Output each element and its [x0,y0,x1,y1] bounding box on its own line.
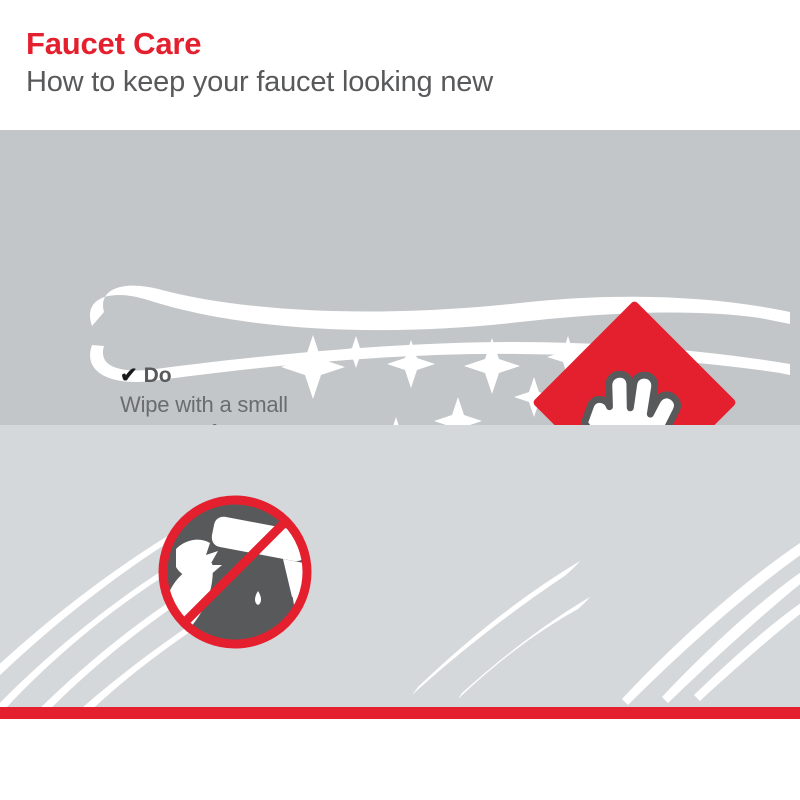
sparkle-icon [514,377,554,417]
sparkle-icon [367,417,425,425]
do-panel: ✔Do Wipe with a small amount of water an… [0,130,800,425]
streak-line [0,529,232,707]
streak-line [412,561,580,695]
streak-line [622,535,800,705]
cloth-diamond [532,300,737,425]
faucet-spout [292,589,322,629]
illustration-backdrop [163,500,307,644]
streak-line [694,596,800,701]
no-scrubbing-prohibition-icon [163,500,322,645]
do-label-row: ✔Do [120,364,360,388]
scrub-motion [163,563,213,645]
do-body-line-1: Wipe with a small [120,391,360,419]
sparkle-icon [547,336,589,378]
swoosh-top [90,286,790,330]
sparkle-icon [464,338,520,394]
streak-line [12,553,250,707]
streak-line [74,577,268,707]
streak-line [458,597,590,699]
dont-panel: ✘Don't Scrub with harsh abrasives which … [0,425,800,707]
do-text-block: ✔Do Wipe with a small amount of water an… [120,364,360,425]
dont-panel-decoration [0,425,800,707]
do-label: Do [144,364,172,387]
hand-with-cloth-icon [532,300,737,425]
prohibition-ring [163,500,307,644]
footer: American Standard [0,719,800,800]
streak-line [662,565,800,703]
scrub-illustration [163,500,322,645]
sparkle-icon [434,397,482,425]
hand-outline [575,361,685,425]
scrub-pad [176,540,222,580]
faucet-body [212,517,308,561]
hand-shape [575,361,685,425]
infographic-page: Faucet Care How to keep your faucet look… [0,0,800,800]
header: Faucet Care How to keep your faucet look… [0,0,800,130]
streak-group-right [412,535,800,705]
red-divider-bar [0,707,800,719]
prohibition-slash [184,521,286,623]
faucet-neck [283,559,312,597]
streak-group-left [0,511,268,707]
water-drop [255,591,261,605]
page-title: Faucet Care [26,26,201,62]
sparkle-icon [387,340,435,388]
checkmark-icon: ✔ [120,364,138,388]
page-subtitle: How to keep your faucet looking new [26,66,493,99]
streak-line [0,511,210,679]
